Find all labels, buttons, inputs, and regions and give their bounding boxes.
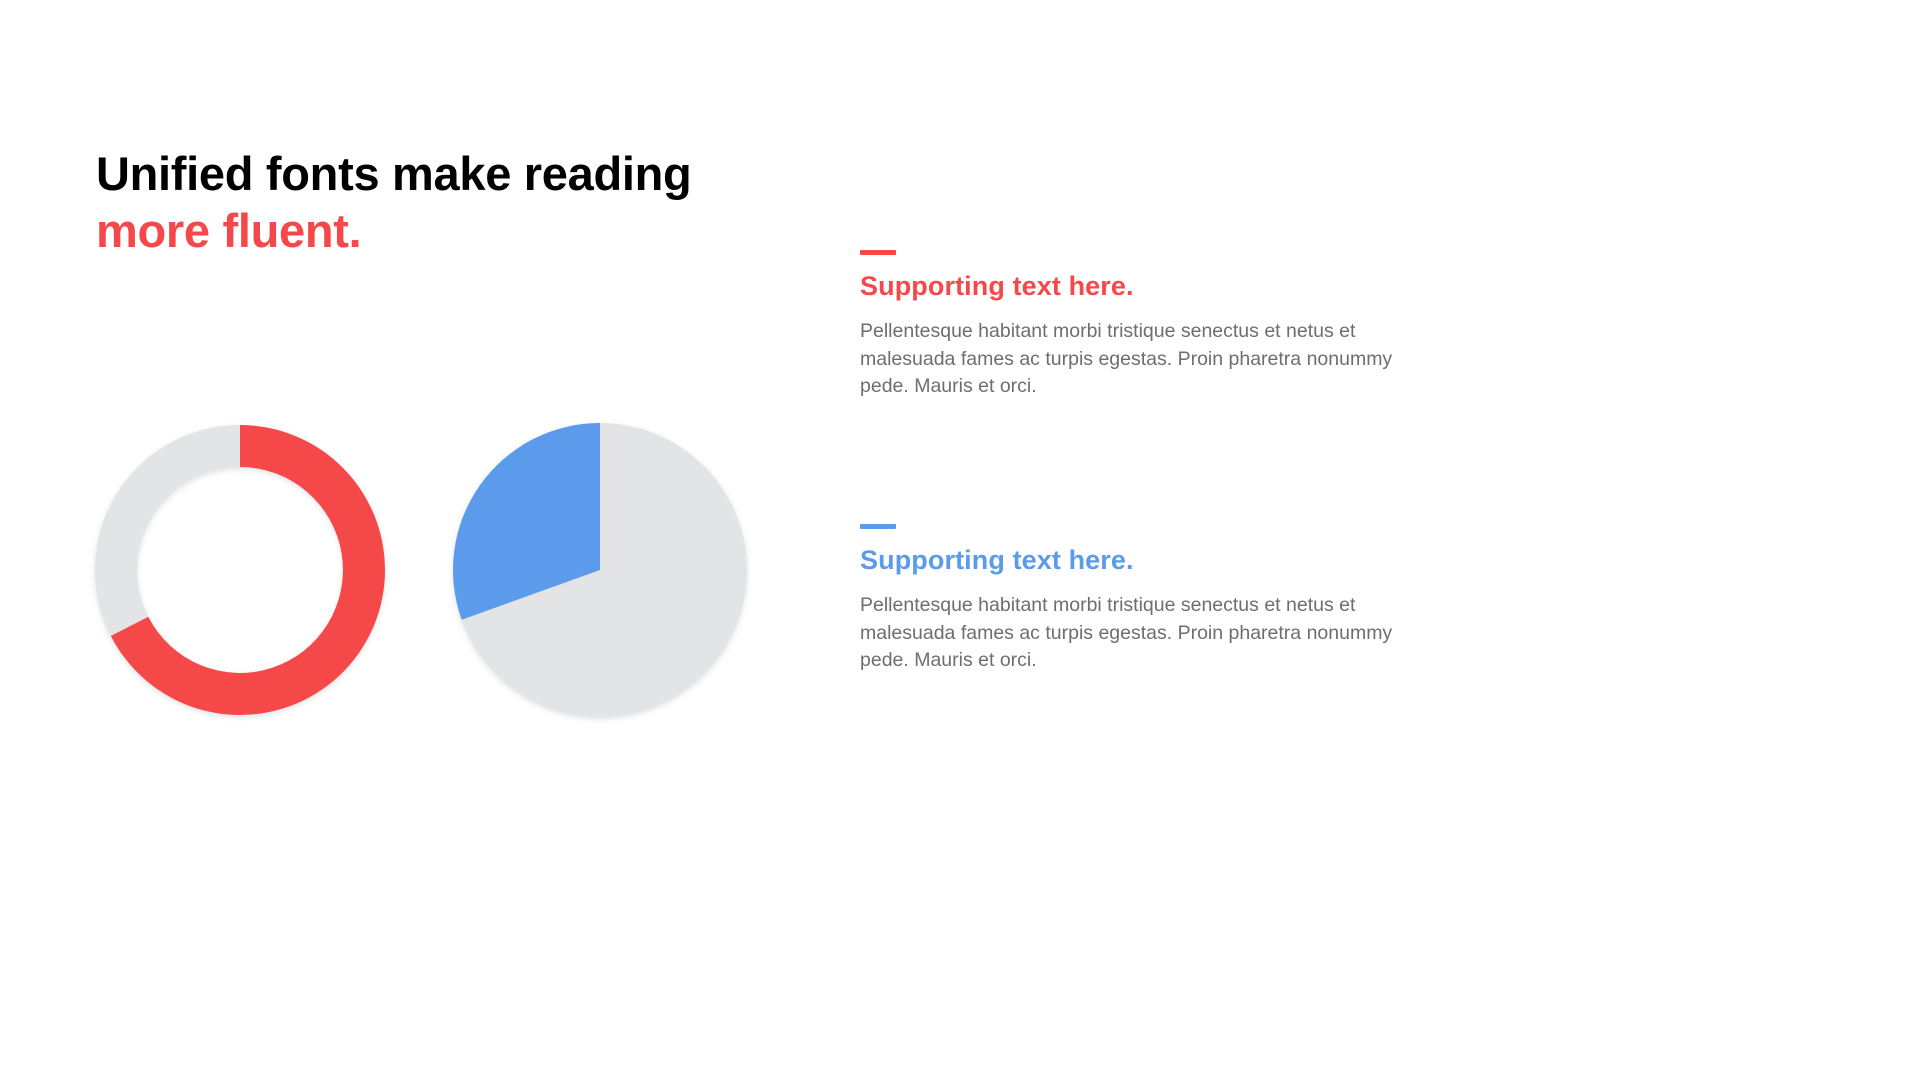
donut-slices: [95, 425, 385, 715]
supporting-heading: Supporting text here.: [860, 270, 1440, 302]
donut-chart-svg: [70, 400, 410, 740]
supporting-body: Pellentesque habitant morbi tristique se…: [860, 592, 1426, 675]
dash-rule-icon: [860, 250, 896, 255]
supporting-heading: Supporting text here.: [860, 544, 1440, 576]
page-title: Unified fonts make reading more fluent.: [96, 146, 856, 258]
pie-chart: [430, 400, 770, 745]
title-line-primary: Unified fonts make reading: [96, 146, 856, 201]
pie-slices: [453, 423, 747, 717]
supporting-body: Pellentesque habitant morbi tristique se…: [860, 318, 1426, 401]
pie-chart-svg: [430, 400, 770, 740]
slide-canvas: Unified fonts make reading more fluent.: [0, 0, 1920, 1080]
supporting-section-blue: Supporting text here. Pellentesque habit…: [860, 524, 1440, 675]
supporting-section-red: Supporting text here. Pellentesque habit…: [860, 250, 1440, 401]
title-line-accent: more fluent.: [96, 203, 856, 258]
dash-rule-icon: [860, 524, 896, 529]
charts-group: [70, 400, 830, 760]
donut-slice-remainder: [95, 425, 240, 636]
donut-chart: [70, 400, 410, 745]
